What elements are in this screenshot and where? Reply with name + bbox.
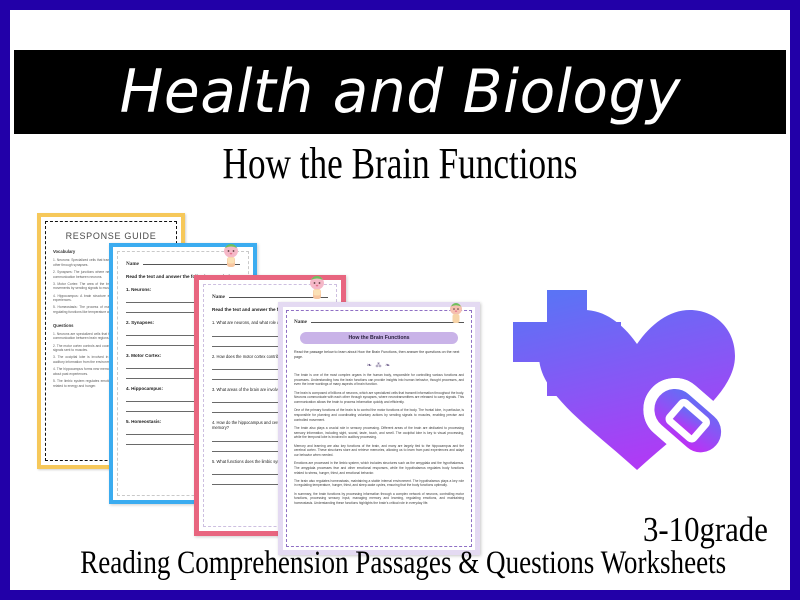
passage-paragraph: One of the primary functions of the brai… — [294, 408, 464, 422]
ornamental-divider-icon: ❧ ⁂ ❧ — [294, 363, 464, 369]
name-label: Name — [212, 294, 225, 300]
worksheet-page-passage[interactable]: Name How the Brain Functions Read the pa… — [278, 302, 480, 555]
strawberry-character-icon — [220, 242, 242, 272]
heart-shape — [505, 282, 790, 502]
grade-badge: 3-10grade — [643, 510, 768, 550]
strawberry-character-icon — [447, 301, 465, 327]
name-label: Name — [126, 261, 139, 267]
passage-paragraph: Emotions are processed in the limbic sys… — [294, 461, 464, 475]
passage-paragraph: Memory and learning are also key functio… — [294, 444, 464, 458]
passage-title-banner: How the Brain Functions — [300, 332, 458, 344]
passage-paragraph: The brain also regulates homeostasis, ma… — [294, 479, 464, 488]
medical-heart-bandage-icon — [505, 282, 790, 502]
bottom-caption: Reading Comprehension Passages & Questio… — [80, 545, 720, 582]
passage-paragraph: The brain also plays a crucial role in s… — [294, 426, 464, 440]
passage-paragraph: The brain is one of the most complex org… — [294, 373, 464, 387]
name-label: Name — [294, 319, 307, 325]
title-banner: Health and Biology — [14, 50, 786, 134]
subtitle: How the Brain Functions — [88, 138, 712, 189]
worksheet-cover: Health and Biology How the Brain Functio… — [0, 0, 800, 600]
page-title: Health and Biology — [119, 62, 680, 122]
page-content: Name How the Brain Functions Read the pa… — [286, 310, 472, 547]
passage-paragraph: The brain is composed of billions of neu… — [294, 391, 464, 405]
passage-instruction: Read the passage below to learn about Ho… — [294, 350, 464, 360]
response-guide-title: RESPONSE GUIDE — [53, 231, 169, 241]
name-input-rule[interactable] — [311, 317, 464, 323]
name-field-row[interactable]: Name — [294, 317, 464, 325]
strawberry-character-icon — [306, 274, 328, 304]
passage-paragraph: In summary, the brain functions by proce… — [294, 492, 464, 506]
